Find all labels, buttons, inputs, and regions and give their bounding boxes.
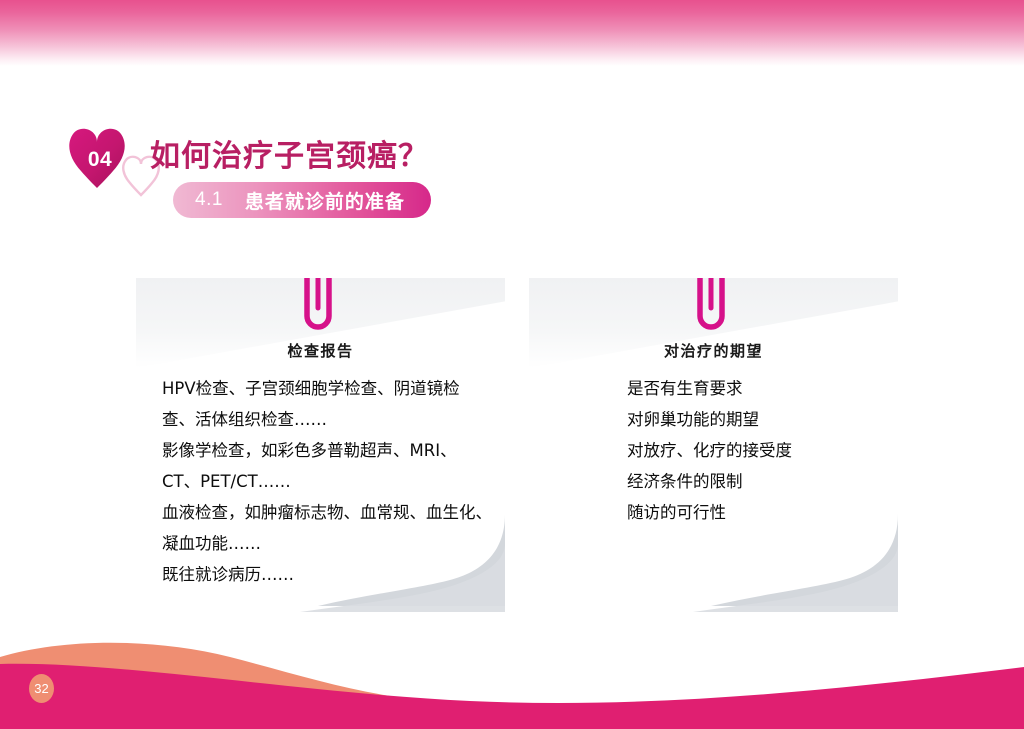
card-line: 对放疗、化疗的接受度	[627, 435, 897, 466]
card-exam-report: 检查报告 HPV检查、子宫颈细胞学检查、阴道镜检查、活体组织检查…… 影像学检查…	[136, 278, 505, 618]
top-gradient-banner	[0, 0, 1024, 66]
slide-root: 04 如何治疗子宫颈癌？ 4.1 患者就诊前的准备 检查报告 HPV检查、子宫颈…	[0, 0, 1024, 729]
card-body: 是否有生育要求 对卵巢功能的期望 对放疗、化疗的接受度 经济条件的限制 随访的可…	[627, 373, 897, 528]
page-curl-shadow	[693, 514, 898, 618]
card-heading: 检查报告	[136, 340, 505, 361]
wave-primary	[0, 664, 1024, 729]
paperclip-icon	[691, 278, 737, 338]
page-number-badge: 32	[29, 674, 54, 703]
subsection-number: 4.1	[195, 189, 223, 211]
card-line: 随访的可行性	[627, 497, 897, 528]
card-line: HPV检查、子宫颈细胞学检查、阴道镜检查、活体组织检查……	[162, 373, 492, 435]
card-line: 对卵巢功能的期望	[627, 404, 897, 435]
card-line: 既往就诊病历……	[162, 559, 492, 590]
slide-header: 04 如何治疗子宫颈癌？ 4.1 患者就诊前的准备	[58, 126, 758, 226]
card-line: 是否有生育要求	[627, 373, 897, 404]
card-treatment-expectations: 对治疗的期望 是否有生育要求 对卵巢功能的期望 对放疗、化疗的接受度 经济条件的…	[529, 278, 898, 618]
subsection-badge[interactable]: 4.1 患者就诊前的准备	[173, 182, 431, 218]
page-title: 如何治疗子宫颈癌？	[150, 131, 429, 175]
card-line: 经济条件的限制	[627, 466, 897, 497]
card-body: HPV检查、子宫颈细胞学检查、阴道镜检查、活体组织检查…… 影像学检查，如彩色多…	[162, 373, 492, 590]
card-heading: 对治疗的期望	[529, 340, 898, 361]
card-line: 血液检查，如肿瘤标志物、血常规、血生化、凝血功能……	[162, 497, 492, 559]
section-number: 04	[80, 148, 120, 172]
card-line: 影像学检查，如彩色多普勒超声、MRI、CT、PET/CT……	[162, 435, 492, 497]
subsection-label: 患者就诊前的准备	[245, 187, 405, 214]
paperclip-icon	[298, 278, 344, 338]
bottom-wave-decoration	[0, 609, 1024, 729]
